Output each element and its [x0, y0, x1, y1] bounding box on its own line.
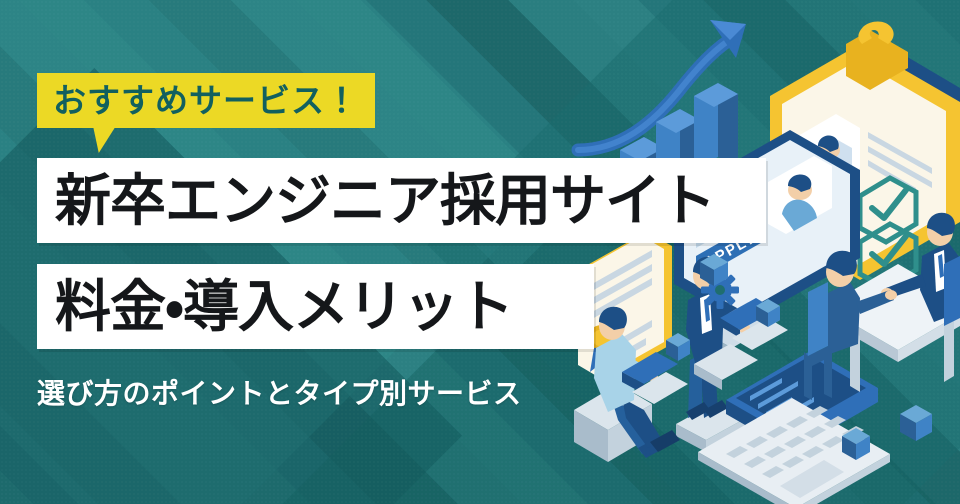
headline-band-2: 料金・導入メリット — [37, 264, 594, 349]
badge-tail — [93, 127, 129, 153]
headline-line-1: 新卒エンジニア採用サイト — [37, 173, 715, 229]
recommended-badge-label: おすすめサービス！ — [53, 84, 359, 117]
text-column: おすすめサービス！ 新卒エンジニア採用サイト 料金・導入メリット 選び方のポイン… — [0, 0, 800, 504]
promo-banner: APPLY — [0, 0, 960, 504]
subtitle: 選び方のポイントとタイプ別サービス — [37, 372, 522, 412]
cube-icon — [900, 405, 932, 441]
recommended-badge: おすすめサービス！ — [37, 73, 375, 128]
headline-band-1: 新卒エンジニア採用サイト — [37, 158, 766, 243]
headline-line-2: 料金・導入メリット — [37, 279, 513, 335]
